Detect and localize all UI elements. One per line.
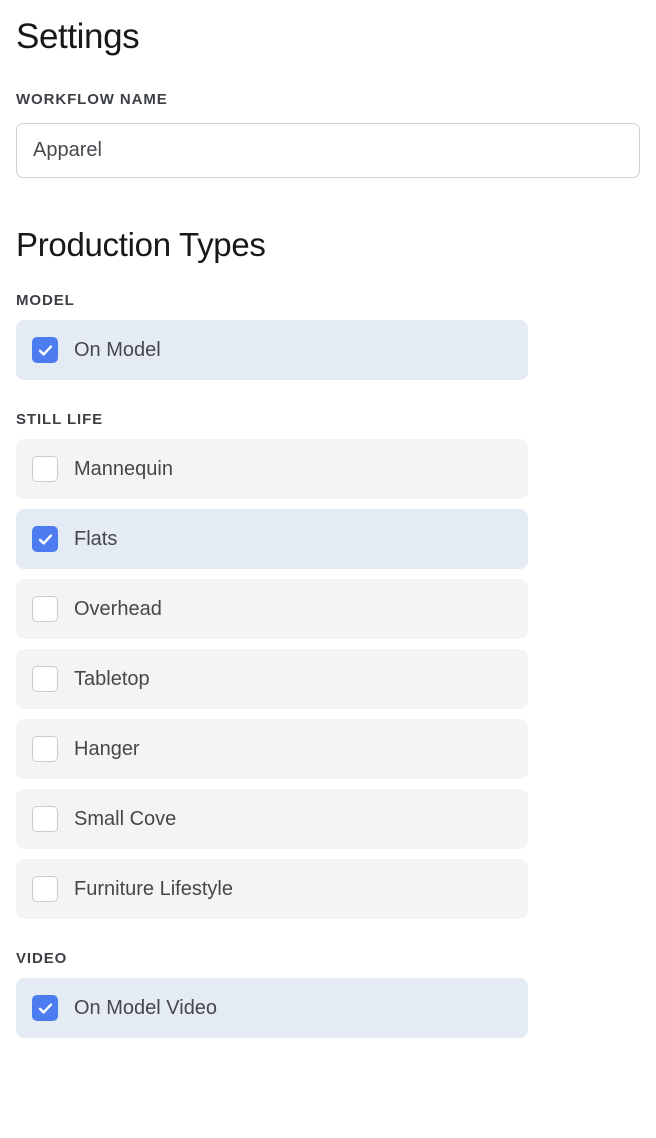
option-list: On Model Video — [16, 978, 640, 1038]
page-title: Settings — [16, 0, 640, 54]
workflow-name-label: WORKFLOW NAME — [16, 54, 640, 107]
option-row[interactable]: On Model Video — [16, 978, 528, 1038]
checkbox-unchecked-icon[interactable] — [32, 806, 58, 832]
group-label: STILL LIFE — [16, 380, 640, 427]
checkbox-unchecked-icon[interactable] — [32, 456, 58, 482]
group-label: VIDEO — [16, 919, 640, 966]
checkbox-unchecked-icon[interactable] — [32, 736, 58, 762]
option-list: On Model — [16, 320, 640, 380]
option-row[interactable]: Overhead — [16, 579, 528, 639]
option-label: Mannequin — [74, 459, 173, 479]
group-label: MODEL — [16, 261, 640, 308]
option-row[interactable]: Tabletop — [16, 649, 528, 709]
option-row[interactable]: Mannequin — [16, 439, 528, 499]
option-label: Overhead — [74, 599, 162, 619]
option-label: Hanger — [74, 739, 140, 759]
option-row[interactable]: Flats — [16, 509, 528, 569]
option-label: Tabletop — [74, 669, 150, 689]
workflow-name-input[interactable] — [16, 123, 640, 178]
production-type-group: MODELOn Model — [16, 261, 640, 380]
checkbox-checked-icon[interactable] — [32, 995, 58, 1021]
option-list: MannequinFlatsOverheadTabletopHangerSmal… — [16, 439, 640, 919]
option-row[interactable]: On Model — [16, 320, 528, 380]
option-label: Small Cove — [74, 809, 176, 829]
production-types-title: Production Types — [16, 178, 640, 261]
settings-page: Settings WORKFLOW NAME Production Types … — [0, 0, 656, 1138]
checkbox-checked-icon[interactable] — [32, 526, 58, 552]
checkbox-unchecked-icon[interactable] — [32, 666, 58, 692]
production-type-group: VIDEOOn Model Video — [16, 919, 640, 1038]
option-row[interactable]: Hanger — [16, 719, 528, 779]
option-label: On Model Video — [74, 998, 217, 1018]
checkbox-unchecked-icon[interactable] — [32, 876, 58, 902]
production-type-group: STILL LIFEMannequinFlatsOverheadTabletop… — [16, 380, 640, 919]
option-label: Flats — [74, 529, 117, 549]
option-row[interactable]: Small Cove — [16, 789, 528, 849]
production-types-groups: MODELOn ModelSTILL LIFEMannequinFlatsOve… — [16, 261, 640, 1038]
checkbox-unchecked-icon[interactable] — [32, 596, 58, 622]
option-label: On Model — [74, 340, 161, 360]
option-row[interactable]: Furniture Lifestyle — [16, 859, 528, 919]
option-label: Furniture Lifestyle — [74, 879, 233, 899]
checkbox-checked-icon[interactable] — [32, 337, 58, 363]
